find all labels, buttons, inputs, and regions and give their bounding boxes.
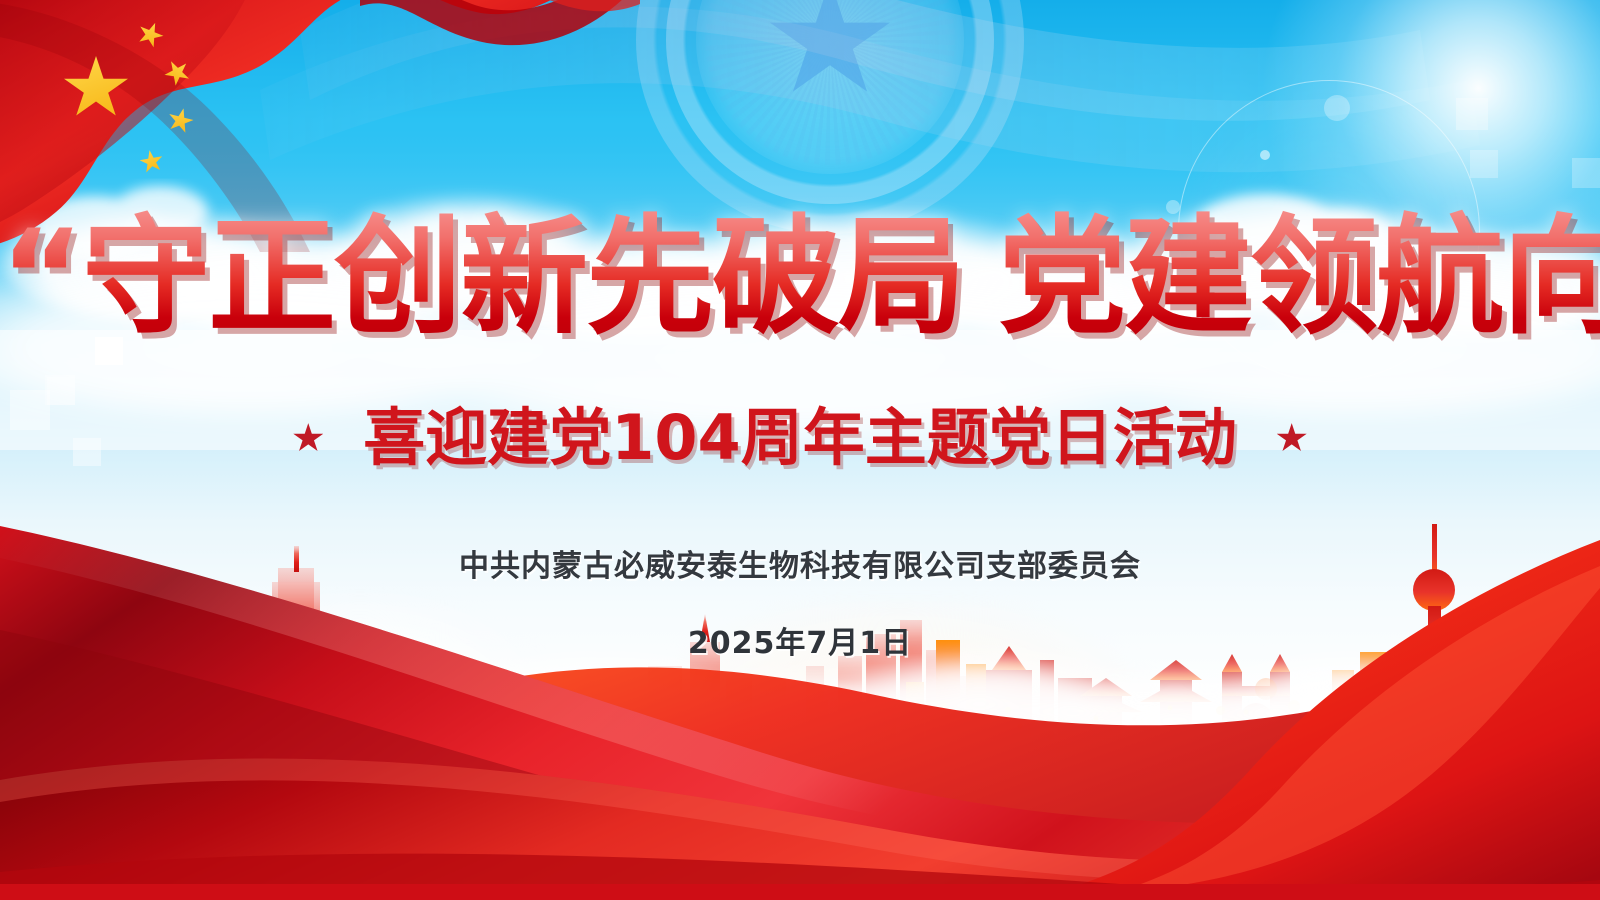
red-star-icon-left <box>293 423 323 453</box>
subtitle-row: 喜迎建党104周年主题党日活动 <box>0 404 1600 472</box>
event-date: 2025年7月1日 <box>0 618 1600 662</box>
red-star-icon-right <box>1277 423 1307 453</box>
party-day-event-poster: “守正创新先破局党建领航向阳生” 喜迎建党104周年主题党日活动 中共内蒙古必威… <box>0 0 1600 900</box>
organization-name: 中共内蒙古必威安泰生物科技有限公司支部委员会 <box>0 541 1600 585</box>
headline-part-1: “守正创新先破局 <box>0 203 964 352</box>
headline-part-2: 党建领航向阳生” <box>998 203 1600 352</box>
subtitle: 喜迎建党104周年主题党日活动 <box>363 404 1236 472</box>
page-title: “守正创新先破局党建领航向阳生” <box>0 206 1600 349</box>
